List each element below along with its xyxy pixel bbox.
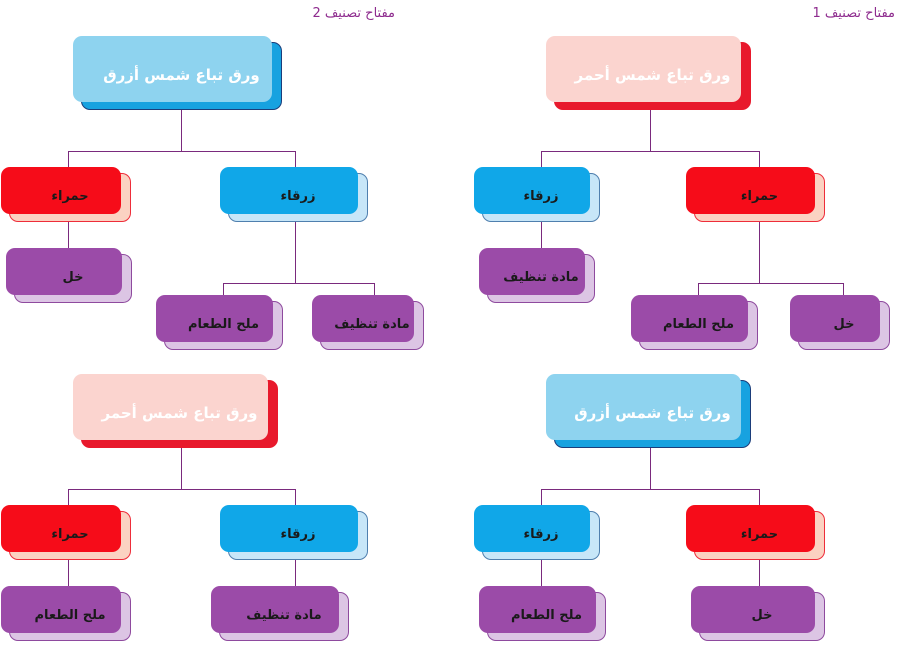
node-branch-red[interactable]: حمراء — [694, 173, 825, 222]
connector-red-stem — [759, 221, 760, 284]
node-label: زرقاء — [229, 190, 367, 205]
node-label: حمراء — [695, 528, 824, 543]
node-leaf-table-salt[interactable]: ملح الطعام — [487, 592, 606, 641]
node-leaf-vinegar[interactable]: خل — [14, 254, 132, 303]
node-leaf-vinegar[interactable]: خل — [798, 301, 890, 350]
node-branch-blue[interactable]: زرقاء — [228, 511, 368, 560]
node-branch-blue[interactable]: زرقاء — [482, 173, 600, 222]
node-label: ورق تباع شمس أزرق — [555, 405, 750, 422]
node-label: حمراء — [695, 190, 824, 205]
node-branch-red[interactable]: حمراء — [9, 173, 131, 222]
connector-root-stem — [650, 448, 651, 490]
diagram-canvas: مفتاح تصنيف 1 مفتاح تصنيف 2 ورق تباع شمس… — [0, 0, 905, 654]
node-leaf-cleaning-agent[interactable]: مادة تنظيف — [487, 254, 595, 303]
connector-root-bar — [68, 489, 296, 490]
connector-root-stem — [650, 110, 651, 152]
node-label: ملح الطعام — [640, 318, 757, 333]
connector-root-stem — [181, 448, 182, 490]
node-label: ملح الطعام — [488, 609, 605, 624]
node-label: زرقاء — [483, 528, 599, 543]
node-label: حمراء — [10, 190, 130, 205]
node-label: ورق تباع شمس أحمر — [82, 405, 277, 422]
node-label: مادة تنظيف — [488, 271, 594, 286]
node-leaf-table-salt[interactable]: ملح الطعام — [639, 301, 758, 350]
node-leaf-cleaning-agent[interactable]: مادة تنظيف — [320, 301, 424, 350]
node-branch-blue[interactable]: زرقاء — [482, 511, 600, 560]
node-label: ملح الطعام — [10, 609, 130, 624]
key-title-2: مفتاح تصنيف 2 — [312, 6, 395, 21]
node-root-blue-litmus[interactable]: ورق تباع شمس أزرق — [81, 42, 282, 110]
node-label: ملح الطعام — [165, 318, 282, 333]
node-root-red-litmus[interactable]: ورق تباع شمس أحمر — [81, 380, 278, 448]
connector-blue-stem — [295, 221, 296, 284]
node-branch-red[interactable]: حمراء — [9, 511, 131, 560]
node-label: خل — [700, 609, 824, 624]
node-label: خل — [15, 271, 131, 286]
node-label: حمراء — [10, 528, 130, 543]
node-leaf-cleaning-agent[interactable]: مادة تنظيف — [219, 592, 349, 641]
connector-root-bar — [541, 151, 760, 152]
connector-blue-bar — [223, 283, 375, 284]
node-label: مادة تنظيف — [321, 318, 423, 333]
connector-root-bar — [68, 151, 296, 152]
connector-root-bar — [541, 489, 760, 490]
node-label: خل — [799, 318, 889, 333]
node-label: زرقاء — [229, 528, 367, 543]
node-leaf-vinegar[interactable]: خل — [699, 592, 825, 641]
node-label: زرقاء — [483, 190, 599, 205]
key-title-1: مفتاح تصنيف 1 — [812, 6, 895, 21]
node-leaf-table-salt[interactable]: ملح الطعام — [164, 301, 283, 350]
node-label: ورق تباع شمس أحمر — [555, 67, 750, 84]
node-branch-blue[interactable]: زرقاء — [228, 173, 368, 222]
connector-red-bar — [698, 283, 844, 284]
node-label: ورق تباع شمس أزرق — [82, 67, 281, 84]
node-root-red-litmus[interactable]: ورق تباع شمس أحمر — [554, 42, 751, 110]
connector-root-stem — [181, 110, 182, 152]
node-branch-red[interactable]: حمراء — [694, 511, 825, 560]
node-root-blue-litmus[interactable]: ورق تباع شمس أزرق — [554, 380, 751, 448]
node-label: مادة تنظيف — [220, 609, 348, 624]
node-leaf-table-salt[interactable]: ملح الطعام — [9, 592, 131, 641]
